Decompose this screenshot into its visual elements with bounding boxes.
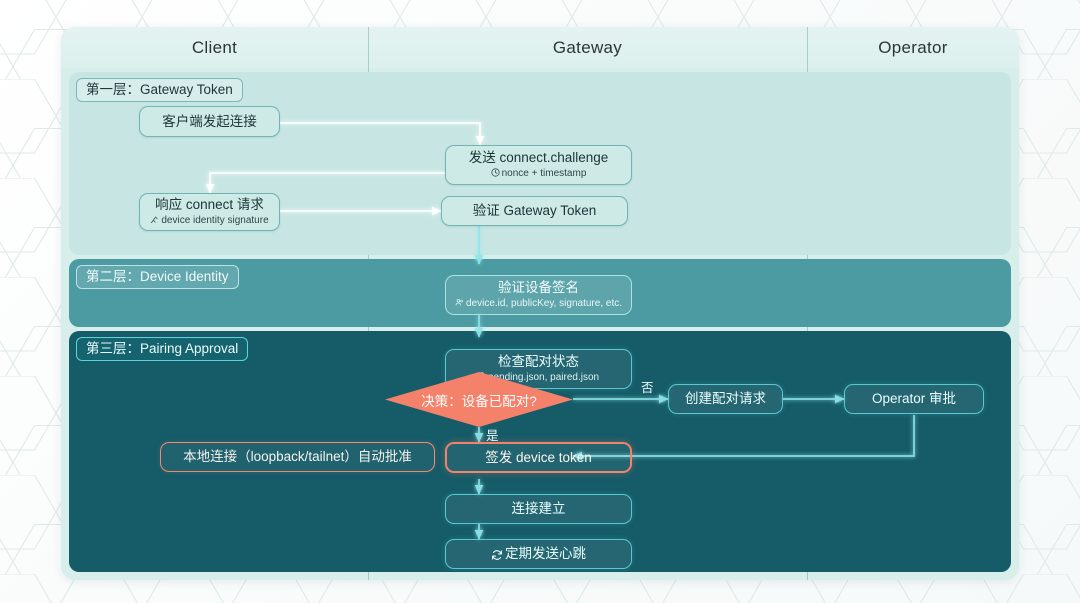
layer-badge-3: 第三层：Pairing Approval — [76, 337, 248, 361]
node-connection-established[interactable]: 连接建立 — [445, 494, 632, 524]
node-operator-approval[interactable]: Operator 审批 — [844, 384, 984, 414]
signature-icon — [150, 215, 159, 228]
column-header-client: Client — [61, 27, 368, 68]
node-verify-device-signature[interactable]: 验证设备签名 device.id, publicKey, signature, … — [445, 275, 632, 315]
node-local-auto-approve[interactable]: 本地连接（loopback/tailnet）自动批准 — [160, 442, 435, 472]
node-send-challenge-sub-text: nonce + timestamp — [502, 168, 587, 179]
node-operator-approval-title: Operator 审批 — [872, 391, 956, 407]
node-respond-connect[interactable]: 响应 connect 请求 device identity signature — [139, 193, 280, 231]
column-header-row: Client Gateway Operator — [61, 27, 1019, 68]
node-send-challenge[interactable]: 发送 connect.challenge nonce + timestamp — [445, 145, 632, 185]
node-create-pairing-request-title: 创建配对请求 — [685, 391, 766, 407]
node-respond-connect-sub-text: device identity signature — [161, 215, 268, 226]
node-heartbeat[interactable]: 定期发送心跳 — [445, 539, 632, 569]
node-client-connect-title: 客户端发起连接 — [162, 114, 257, 130]
node-check-pairing-state-title: 检查配对状态 — [498, 354, 579, 370]
node-client-connect[interactable]: 客户端发起连接 — [139, 106, 280, 137]
node-decision-device-paired-title: 决策：设备已配对? — [421, 390, 537, 410]
layer-badge-1: 第一层：Gateway Token — [76, 78, 243, 102]
node-issue-device-token[interactable]: 签发 device token — [445, 442, 632, 473]
node-create-pairing-request[interactable]: 创建配对请求 — [668, 384, 783, 414]
node-heartbeat-label: 定期发送心跳 — [505, 546, 586, 561]
edge-label-no: 否 — [641, 377, 654, 396]
node-send-challenge-title: 发送 connect.challenge — [469, 150, 609, 166]
column-header-gateway: Gateway — [368, 27, 807, 68]
node-local-auto-approve-title: 本地连接（loopback/tailnet）自动批准 — [183, 449, 412, 465]
layer-badge-2: 第二层：Device Identity — [76, 265, 239, 289]
clock-icon — [491, 168, 500, 181]
node-verify-device-signature-title: 验证设备签名 — [498, 280, 579, 296]
node-respond-connect-title: 响应 connect 请求 — [155, 197, 264, 213]
node-verify-gateway-token[interactable]: 验证 Gateway Token — [441, 196, 628, 226]
node-respond-connect-sub: device identity signature — [150, 215, 268, 228]
node-verify-device-signature-sub: device.id, publicKey, signature, etc. — [455, 298, 622, 311]
node-heartbeat-title: 定期发送心跳 — [491, 546, 586, 563]
node-verify-device-signature-sub-text: device.id, publicKey, signature, etc. — [466, 298, 622, 309]
column-header-operator: Operator — [807, 27, 1019, 68]
node-verify-gateway-token-title: 验证 Gateway Token — [473, 203, 597, 219]
refresh-icon — [491, 547, 503, 563]
people-icon — [455, 298, 464, 311]
node-connection-established-title: 连接建立 — [512, 501, 566, 517]
node-send-challenge-sub: nonce + timestamp — [491, 168, 587, 181]
node-issue-device-token-title: 签发 device token — [485, 450, 592, 466]
diagram-card: Client Gateway Operator 第一层：Gateway Toke… — [61, 27, 1019, 580]
